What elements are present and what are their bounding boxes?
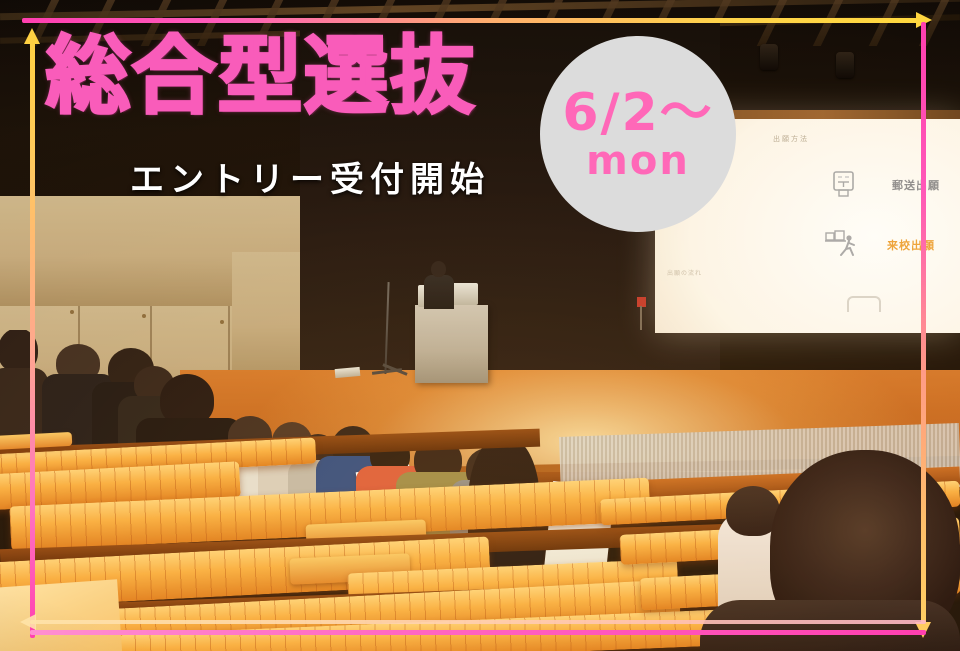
arrow-right-icon	[916, 12, 932, 28]
stage-light-icon	[760, 44, 778, 70]
presenter	[424, 275, 454, 309]
mail-envelope-icon	[830, 170, 858, 200]
screen-heading: 出願方法	[773, 134, 809, 144]
screen-item-row: 来校出願	[825, 230, 935, 260]
screen-item-label: 来校出願	[887, 237, 935, 253]
aisle-floor	[0, 579, 123, 651]
badge-weekday: mon	[586, 141, 690, 181]
screen-bottom-shape	[847, 296, 881, 312]
page-subtitle: エントリー受付開始	[130, 152, 490, 201]
date-badge: 6/2〜 mon	[540, 36, 736, 232]
presenter-head	[431, 261, 446, 277]
stage-light-icon	[836, 52, 854, 78]
page-title: 総合型選抜	[46, 34, 476, 118]
promo-banner: 出願方法 郵送出願	[0, 0, 960, 651]
arrow-up-icon	[24, 28, 40, 44]
arrow-down-icon	[915, 622, 931, 638]
screen-footer-note: 出願の流れ	[667, 268, 702, 277]
screen-item-label: 郵送出願	[892, 177, 940, 193]
audience-area	[0, 330, 960, 651]
screen-item-row: 郵送出願	[830, 170, 940, 200]
person-running-to-school-icon	[825, 230, 853, 260]
badge-date: 6/2〜	[562, 87, 713, 139]
arrow-left-icon	[20, 614, 36, 630]
laptop	[450, 283, 478, 305]
